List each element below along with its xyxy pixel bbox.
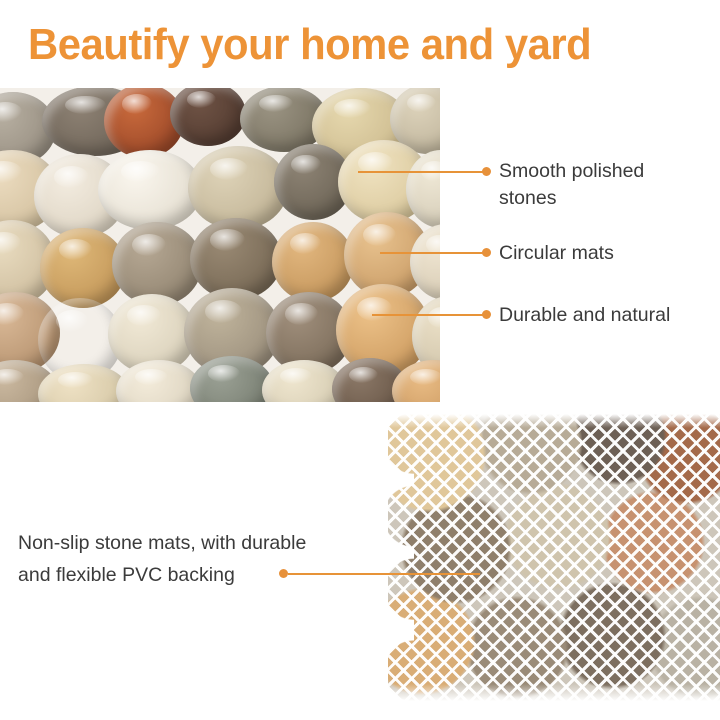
callout-label-circular-mats: Circular mats [499, 240, 699, 267]
callout-leader-line-3 [372, 314, 486, 316]
mat-scalloped-edge [388, 414, 414, 706]
callout-dot-2 [482, 248, 491, 257]
stone-mat-photo [0, 88, 440, 402]
page-title: Beautify your home and yard [28, 20, 591, 70]
mat-top-fade [388, 414, 720, 428]
callout-dot-1 [482, 167, 491, 176]
pvc-backing-stones [388, 414, 720, 706]
callout-dot-3 [482, 310, 491, 319]
product-infographic: Beautify your home and yard [0, 0, 720, 720]
callout-label-smooth-polished-stones: Smooth polished stones [499, 158, 699, 212]
callout-leader-line-1 [358, 171, 486, 173]
stone [272, 222, 354, 302]
stone [98, 150, 202, 230]
callout-leader-line-2 [380, 252, 486, 254]
caption-non-slip-stone-mats: Non-slip stone mats, with durable and fl… [18, 527, 378, 591]
caption-dot [279, 569, 288, 578]
callout-label-durable-and-natural: Durable and natural [499, 302, 709, 329]
caption-leader-line [288, 573, 480, 575]
pvc-backing-photo [388, 414, 720, 706]
mat-bottom-fade [388, 684, 720, 706]
